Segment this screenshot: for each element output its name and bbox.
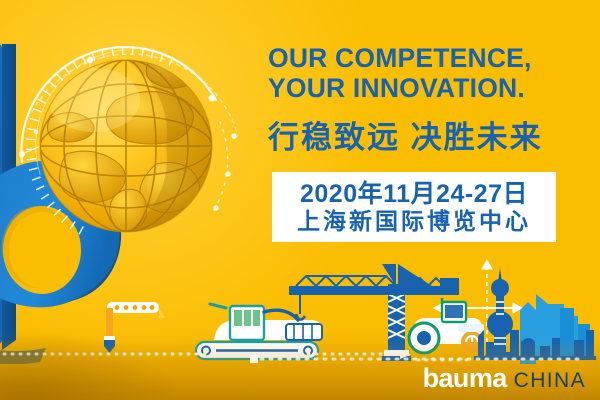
subheadline-chinese: 行稳致远 决胜未来 — [268, 122, 588, 153]
headline-line-1: OUR COMPETENCE, — [268, 43, 532, 73]
bauma-china-banner: OUR COMPETENCE, YOUR INNOVATION. 行稳致远 决胜… — [0, 0, 600, 400]
event-date: 2020年11月24-27日 — [300, 181, 528, 207]
bauma-china-logo: bauma CHINA — [423, 365, 586, 392]
globe-graphic — [6, 14, 256, 264]
event-venue: 上海新国际博览中心 — [297, 209, 531, 233]
crawler-excavator-icon — [196, 304, 322, 359]
logo-region-text: CHINA — [514, 370, 586, 391]
shanghai-skyline-icon — [474, 268, 596, 364]
headline: OUR COMPETENCE, YOUR INNOVATION. — [268, 44, 588, 104]
road-roller-icon — [409, 298, 484, 353]
headline-line-2: YOUR INNOVATION. — [268, 74, 588, 104]
logo-brand-text: bauma — [423, 365, 507, 392]
date-venue-box: 2020年11月24-27日 上海新国际博览中心 — [272, 172, 556, 242]
pile-driver-icon — [104, 302, 165, 353]
construction-scene-graphic — [0, 250, 600, 365]
